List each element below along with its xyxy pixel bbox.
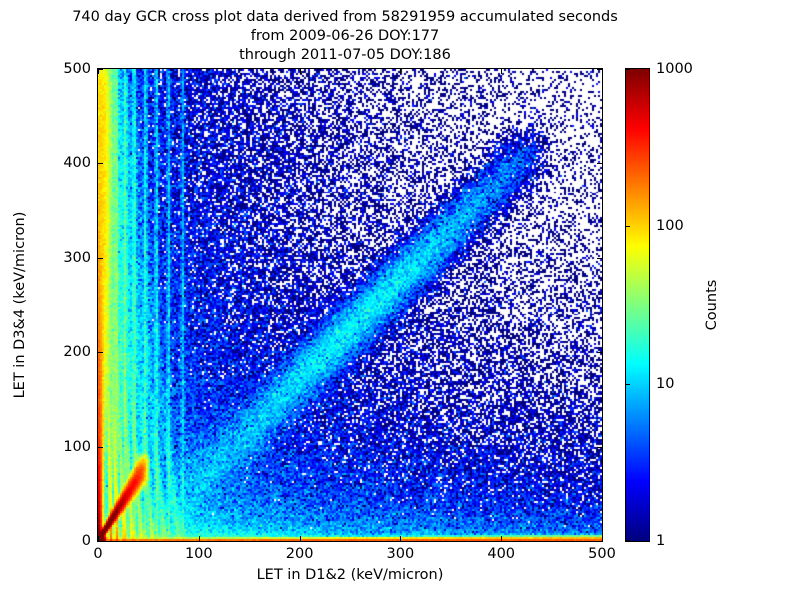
title-line-2: from 2009-06-26 DOY:177 [0, 27, 690, 46]
title-line-1: 740 day GCR cross plot data derived from… [0, 8, 690, 27]
colorbar-tick-label: 1 [656, 533, 665, 549]
y-tick-mark [597, 352, 602, 353]
y-tick-label: 100 [63, 439, 91, 455]
y-tick-label: 300 [63, 250, 91, 266]
x-tick-mark [501, 69, 502, 74]
x-tick-mark [199, 69, 200, 74]
y-tick-mark [98, 352, 103, 353]
x-tick-mark [602, 69, 603, 74]
colorbar-tick-label: 10 [656, 376, 674, 392]
y-tick-mark [98, 69, 103, 70]
x-tick-mark [199, 536, 200, 541]
colorbar-label: Counts [704, 280, 720, 331]
density-heatmap [98, 69, 602, 541]
x-tick-mark [602, 536, 603, 541]
colorbar-tick-mark [626, 69, 630, 70]
x-tick-mark [501, 536, 502, 541]
x-tick-label: 100 [185, 546, 213, 562]
y-tick-mark [98, 541, 103, 542]
y-tick-label: 400 [63, 155, 91, 171]
colorbar-tick-mark [626, 540, 630, 541]
colorbar [625, 68, 650, 542]
x-tick-mark [300, 536, 301, 541]
y-tick-mark [597, 447, 602, 448]
plot-axes [97, 68, 603, 542]
title-line-3: through 2011-07-05 DOY:186 [0, 46, 690, 65]
x-tick-label: 0 [93, 546, 102, 562]
figure-canvas: 740 day GCR cross plot data derived from… [0, 0, 800, 600]
y-tick-label: 200 [63, 344, 91, 360]
y-tick-mark [597, 258, 602, 259]
y-axis-label: LET in D3&4 (keV/micron) [12, 212, 28, 399]
x-tick-label: 300 [387, 546, 415, 562]
x-tick-mark [300, 69, 301, 74]
colorbar-tick-label: 1000 [656, 61, 693, 77]
figure-title: 740 day GCR cross plot data derived from… [0, 8, 690, 65]
y-tick-mark [98, 258, 103, 259]
x-tick-label: 200 [286, 546, 314, 562]
y-tick-mark [597, 163, 602, 164]
x-tick-mark [400, 536, 401, 541]
y-tick-mark [98, 163, 103, 164]
colorbar-gradient [626, 69, 649, 541]
y-tick-mark [597, 69, 602, 70]
x-tick-label: 400 [487, 546, 515, 562]
x-tick-mark [400, 69, 401, 74]
colorbar-tick-mark [626, 384, 630, 385]
colorbar-tick-label: 100 [656, 218, 684, 234]
y-tick-label: 0 [82, 533, 91, 549]
x-axis-label: LET in D1&2 (keV/micron) [97, 567, 603, 583]
y-tick-label: 500 [63, 61, 91, 77]
y-tick-mark [597, 541, 602, 542]
colorbar-tick-mark [626, 226, 630, 227]
y-tick-mark [98, 447, 103, 448]
x-tick-label: 500 [588, 546, 616, 562]
